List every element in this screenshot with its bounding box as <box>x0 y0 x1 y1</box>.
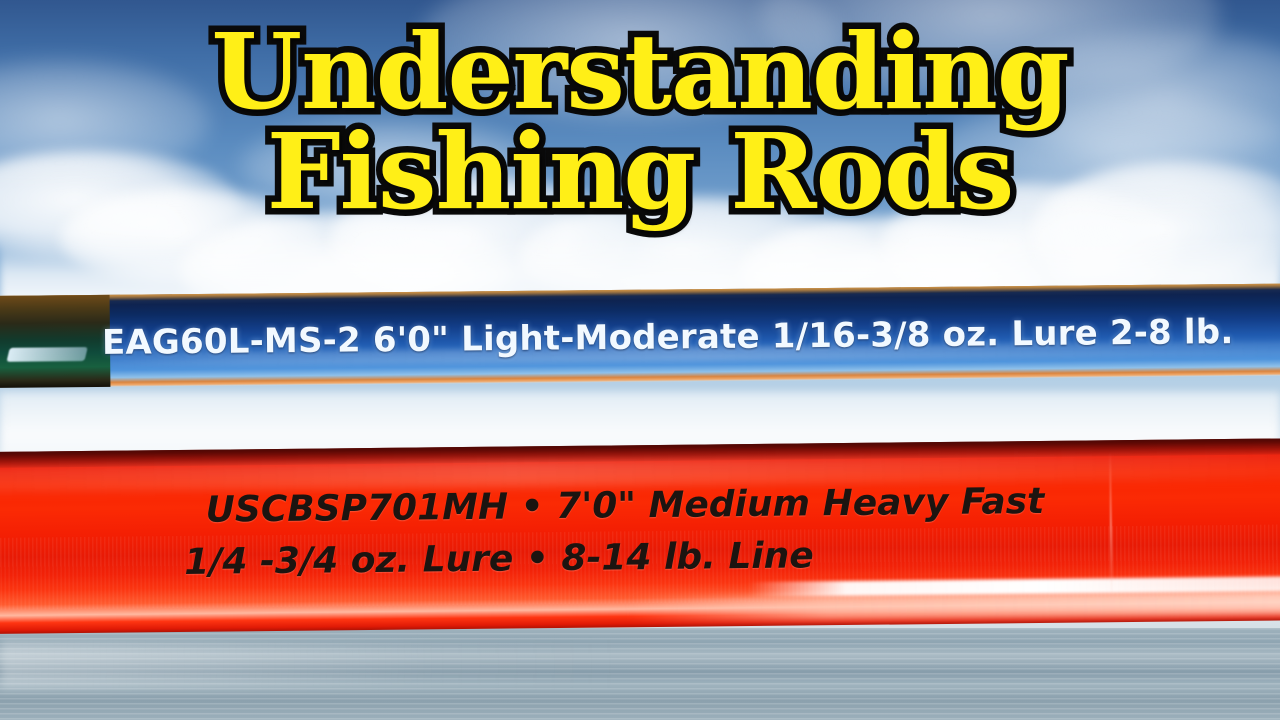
blue-rod-butt-highlight <box>6 347 87 362</box>
red-rod-spec-label-line-1: USCBSP701MH • 7'0" Medium Heavy Fast <box>205 481 1044 531</box>
red-rod-spec-label-line-2: 1/4 -3/4 oz. Lure • 8-14 lb. Line <box>184 535 814 583</box>
blue-fishing-rod: EAG60L-MS-2 6'0" Light-Moderate 1/16-3/8… <box>0 284 1280 388</box>
water-reflection <box>0 640 620 688</box>
red-fishing-rod: USCBSP701MH • 7'0" Medium Heavy Fast 1/4… <box>0 438 1280 634</box>
thumbnail-canvas: Understanding Fishing Rods EAG60L-MS-2 6… <box>0 0 1280 720</box>
blue-rod-butt-end <box>0 295 110 388</box>
